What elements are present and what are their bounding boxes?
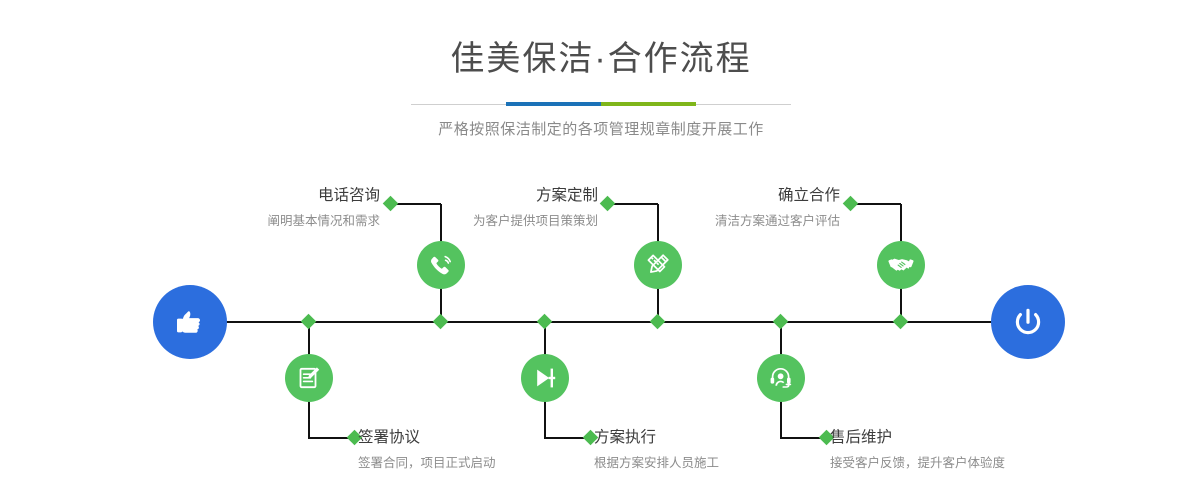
step-icon-5[interactable] [877, 241, 925, 289]
step-icon-1[interactable] [417, 241, 465, 289]
step-title-1: 电话咨询 [150, 188, 380, 204]
step-marker-axis-6 [773, 313, 789, 329]
step-marker-axis-3 [650, 313, 666, 329]
step-icon-3[interactable] [634, 241, 682, 289]
step-label-6: 售后维护 接受客户反馈，提升客户体验度 [830, 430, 1130, 469]
document-pen-icon [295, 364, 323, 392]
step-icon-4[interactable] [521, 354, 569, 402]
pencil-ruler-icon [644, 251, 672, 279]
step-marker-axis-2 [301, 313, 317, 329]
step-desc-1: 阐明基本情况和需求 [150, 215, 380, 228]
step-label-3: 方案定制 为客户提供项目策策划 [370, 188, 598, 227]
step-title-3: 方案定制 [370, 188, 598, 204]
step-marker-axis-4 [537, 313, 553, 329]
process-timeline: 电话咨询 阐明基本情况和需求 [0, 0, 1202, 502]
step-marker-axis-5 [893, 313, 909, 329]
step-icon-6[interactable] [757, 354, 805, 402]
play-execute-icon [531, 364, 559, 392]
power-icon [1008, 302, 1048, 342]
handshake-icon [887, 251, 915, 279]
pointing-hand-icon [170, 302, 210, 342]
step-desc-3: 为客户提供项目策策划 [370, 215, 598, 228]
step-desc-6: 接受客户反馈，提升客户体验度 [830, 457, 1130, 470]
step-title-6: 售后维护 [830, 430, 1130, 446]
customer-service-add-icon [767, 364, 795, 392]
step-leadline-5 [855, 203, 901, 205]
step-desc-5: 清洁方案通过客户评估 [610, 215, 840, 228]
timeline-end [991, 285, 1065, 359]
step-label-5: 确立合作 清洁方案通过客户评估 [610, 188, 840, 227]
step-marker-label-5 [843, 196, 859, 212]
phone-call-icon [427, 251, 455, 279]
step-icon-2[interactable] [285, 354, 333, 402]
step-label-1: 电话咨询 阐明基本情况和需求 [150, 188, 380, 227]
step-title-5: 确立合作 [610, 188, 840, 204]
flow-infographic: 佳美保洁·合作流程 严格按照保洁制定的各项管理规章制度开展工作 [0, 0, 1202, 502]
step-marker-axis-1 [433, 313, 449, 329]
timeline-start [153, 285, 227, 359]
